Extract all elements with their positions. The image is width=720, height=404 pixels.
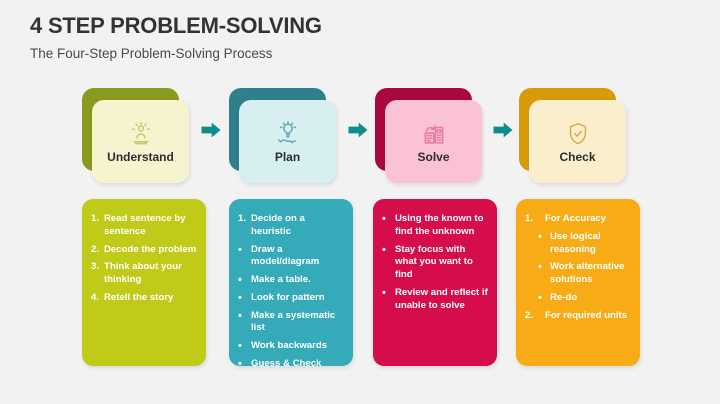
list-item-marker: • xyxy=(382,287,394,300)
list-item: •Make a table. xyxy=(238,274,344,287)
list-item: 1.Read sentence by sentence xyxy=(91,213,197,239)
list-item-text: Think about your thinking xyxy=(104,261,182,285)
list-item-text: Review and reflect if unable to solve xyxy=(395,287,488,311)
shield-check-icon xyxy=(564,120,592,148)
step-card-label: Check xyxy=(559,151,595,163)
list-item: 2.Decode the problem xyxy=(91,244,197,257)
page-title: 4 STEP PROBLEM-SOLVING xyxy=(30,14,700,38)
list-item: 2.For required units xyxy=(525,310,631,323)
list-item: •Stay focus with what you want to find xyxy=(382,244,488,282)
step-card-face[interactable]: Check xyxy=(529,100,626,183)
list-item: 1.For Accuracy xyxy=(525,213,631,226)
step-card-solve[interactable]: Solve xyxy=(375,88,490,188)
page-subtitle: The Four-Step Problem-Solving Process xyxy=(30,47,700,62)
detail-panel-understand: 1.Read sentence by sentence2.Decode the … xyxy=(82,199,206,366)
detail-panel-check: 1.For Accuracy•Use logical reasoning•Wor… xyxy=(516,199,640,366)
calculator-document-icon xyxy=(420,120,448,148)
list-item-marker: • xyxy=(238,274,250,287)
list-item-marker: 2. xyxy=(91,244,103,257)
list-item-text: Make a table. xyxy=(251,274,311,285)
detail-list: 1.Read sentence by sentence2.Decode the … xyxy=(91,213,197,305)
lightbulb-hand-icon xyxy=(274,120,302,148)
step-card-understand[interactable]: Understand xyxy=(82,88,197,188)
list-item: •Using the known to find the unknown xyxy=(382,213,488,239)
arrow-solve-to-check-glyph xyxy=(492,120,514,140)
list-item: •Guess & Check xyxy=(238,358,344,371)
header: 4 STEP PROBLEM-SOLVING The Four-Step Pro… xyxy=(30,14,700,62)
step-card-face[interactable]: Plan xyxy=(239,100,336,183)
list-item-marker: 2. xyxy=(525,310,543,323)
list-item: •Draw a model/diagram xyxy=(238,244,344,270)
list-item-marker: 3. xyxy=(91,261,103,274)
list-item-marker: • xyxy=(538,231,550,244)
list-item-marker: 1. xyxy=(91,213,103,226)
list-item-text: Work backwards xyxy=(251,340,327,351)
step-card-face[interactable]: Solve xyxy=(385,100,482,183)
step-card-check[interactable]: Check xyxy=(519,88,634,188)
detail-list: •Using the known to find the unknown•Sta… xyxy=(382,213,488,312)
list-item-text: Decide on a heuristic xyxy=(251,213,305,237)
detail-panel-solve: •Using the known to find the unknown•Sta… xyxy=(373,199,497,366)
list-item-text: Work alternative solutions xyxy=(550,261,624,285)
step-card-label: Understand xyxy=(107,151,174,163)
detail-list: 1.Decide on a heuristic•Draw a model/dia… xyxy=(238,213,344,371)
list-item-text: Look for pattern xyxy=(251,292,325,303)
person-idea-icon xyxy=(127,120,155,148)
list-item-text: Using the known to find the unknown xyxy=(395,213,483,237)
arrow-understand-to-plan xyxy=(200,120,222,140)
list-item-text: Use logical reasoning xyxy=(550,231,601,255)
list-item: •Make a systematic list xyxy=(238,310,344,336)
list-item: •Re-do xyxy=(525,292,631,305)
step-card-label: Solve xyxy=(417,151,449,163)
slide-canvas: 4 STEP PROBLEM-SOLVING The Four-Step Pro… xyxy=(0,0,720,404)
list-item-text: For required units xyxy=(545,310,627,321)
list-item: •Use logical reasoning xyxy=(525,231,631,257)
list-item-marker: • xyxy=(538,261,550,274)
arrow-plan-to-solve xyxy=(347,120,369,140)
list-item: 4.Retell the story xyxy=(91,292,197,305)
detail-panel-plan: 1.Decide on a heuristic•Draw a model/dia… xyxy=(229,199,353,366)
list-item-marker: • xyxy=(238,292,250,305)
list-item: •Work backwards xyxy=(238,340,344,353)
list-item-text: For Accuracy xyxy=(545,213,606,224)
list-item-marker: • xyxy=(238,340,250,353)
arrow-plan-to-solve-glyph xyxy=(347,120,369,140)
arrow-understand-to-plan-glyph xyxy=(200,120,222,140)
list-item: 3.Think about your thinking xyxy=(91,261,197,287)
list-item-text: Make a systematic list xyxy=(251,310,335,334)
list-item-marker: 1. xyxy=(525,213,543,226)
list-item-text: Retell the story xyxy=(104,292,173,303)
detail-list: 1.For Accuracy•Use logical reasoning•Wor… xyxy=(525,213,631,322)
list-item-marker: • xyxy=(382,213,394,226)
detail-panels: 1.Read sentence by sentence2.Decode the … xyxy=(82,199,650,366)
list-item-text: Stay focus with what you want to find xyxy=(395,244,473,281)
list-item-marker: • xyxy=(382,244,394,257)
list-item: 1.Decide on a heuristic xyxy=(238,213,344,239)
arrow-solve-to-check xyxy=(492,120,514,140)
list-item-marker: • xyxy=(238,244,250,257)
list-item: •Review and reflect if unable to solve xyxy=(382,287,488,313)
list-item: •Work alternative solutions xyxy=(525,261,631,287)
list-item-text: Re-do xyxy=(550,292,577,303)
list-item-text: Draw a model/diagram xyxy=(251,244,319,268)
list-item-text: Read sentence by sentence xyxy=(104,213,186,237)
step-card-plan[interactable]: Plan xyxy=(229,88,344,188)
list-item-marker: 1. xyxy=(238,213,250,226)
step-card-face[interactable]: Understand xyxy=(92,100,189,183)
list-item-marker: • xyxy=(538,292,550,305)
list-item-text: Guess & Check xyxy=(251,358,321,369)
list-item-marker: 4. xyxy=(91,292,103,305)
list-item: •Look for pattern xyxy=(238,292,344,305)
list-item-marker: • xyxy=(238,358,250,371)
list-item-text: Decode the problem xyxy=(104,244,196,255)
step-card-label: Plan xyxy=(275,151,300,163)
list-item-marker: • xyxy=(238,310,250,323)
